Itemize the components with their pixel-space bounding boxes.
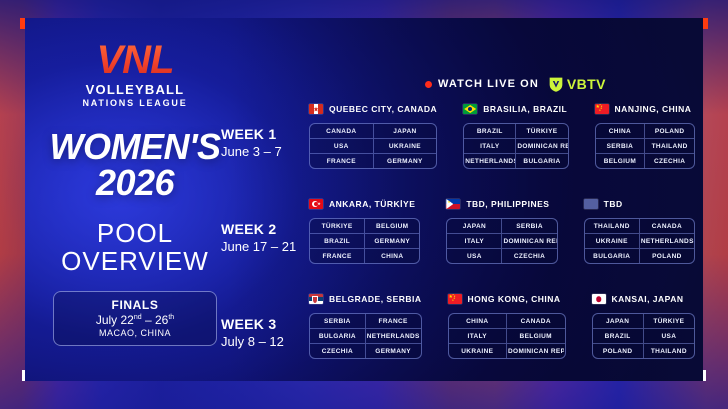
team-cell: CANADA [639,219,694,233]
pool-header: KANSAI, JAPAN [592,292,696,306]
week-row: WEEK 2June 17 – 21★ANKARA, TÜRKİYETÜRKIY… [221,197,695,292]
flag-japan-icon [592,294,606,304]
pool-header: ★★★★★HONG KONG, CHINA [448,292,566,306]
team-cell: BELGIUM [506,329,564,343]
flag-turkiye-icon: ★ [309,199,323,209]
pool-group: BELGRADE, SERBIASERBIAFRANCEBULGARIANETH… [309,292,695,359]
pool-block: BRASILIA, BRAZILBRAZILTÜRKIYEITALYDOMINI… [463,102,568,169]
team-cell: JAPAN [593,314,643,328]
team-cell: ITALY [464,139,515,153]
table-row: CHINAPOLAND [596,124,694,138]
table-row: NETHERLANDSBULGARIA [464,153,567,168]
team-cell: UKRAINE [449,344,506,358]
team-cell: CANADA [506,314,564,328]
pool-group: ★ANKARA, TÜRKİYETÜRKIYEBELGIUMBRAZILGERM… [309,197,695,264]
weeks-container: WEEK 1June 3 – 7QUEBEC CITY, CANADACANAD… [221,102,695,381]
team-cell: BULGARIA [585,249,639,263]
pool-city-label: BELGRADE, SERBIA [329,294,422,304]
table-row: FRANCECHINA [310,248,419,263]
week-dates: June 3 – 7 [221,144,307,159]
team-cell: CHINA [364,249,419,263]
table-row: USAUKRAINE [310,138,436,153]
pool-city-label: NANJING, CHINA [615,104,692,114]
team-cell: POLAND [644,124,694,138]
page-subtitle-line1: POOL [35,219,235,247]
team-cell: NETHERLANDS [464,154,515,168]
team-cell: BELGIUM [596,154,645,168]
team-cell: USA [310,139,373,153]
table-row: UKRAINEDOMINICAN REPUBLIC [449,343,565,358]
pool-table: JAPANSERBIAITALYDOMINICAN REPUBLICUSACZE… [446,218,557,264]
vnl-logo-line1: VOLLEYBALL [35,82,235,97]
week-name: WEEK 1 [221,126,307,142]
pool-block: ★TBD, PHILIPPINESJAPANSERBIAITALYDOMINIC… [446,197,557,264]
pool-city-label: ANKARA, TÜRKİYE [329,199,415,209]
vnl-logo-mark: VNL [97,40,174,80]
week-row: WEEK 3July 8 – 12BELGRADE, SERBIASERBIAF… [221,292,695,381]
team-cell: GERMANY [365,344,421,358]
team-cell: BULGARIA [515,154,567,168]
week-dates: June 17 – 21 [221,239,307,254]
table-row: CHINACANADA [449,314,565,328]
table-row: ITALYDOMINICAN REPUBLIC [447,233,556,248]
finals-date: July 22nd – 26th [62,313,208,327]
team-cell: THAILAND [644,139,694,153]
team-cell: TÜRKIYE [515,124,567,138]
finals-date-sup2: th [168,314,174,321]
flag-brazil-icon [463,104,477,114]
table-row: JAPANTÜRKIYE [593,314,695,328]
team-cell: POLAND [593,344,643,358]
team-cell: POLAND [639,249,694,263]
pool-header: BRASILIA, BRAZIL [463,102,568,116]
flag-serbia-icon [309,294,323,304]
team-cell: BRAZIL [464,124,515,138]
team-cell: BRAZIL [593,329,643,343]
team-cell: BULGARIA [310,329,365,343]
team-cell: JAPAN [373,124,437,138]
team-cell: CZECHIA [644,154,694,168]
pool-table: BRAZILTÜRKIYEITALYDOMINICAN REPUBLICNETH… [463,123,568,169]
team-cell: NETHERLANDS [639,234,694,248]
finals-date-mid: – 26 [142,313,169,327]
team-cell: CHINA [596,124,645,138]
pool-header: ★TBD, PHILIPPINES [446,197,557,211]
table-row: THAILANDCANADA [585,219,694,233]
team-cell: ITALY [447,234,501,248]
page-subtitle-line2: OVERVIEW [35,247,235,275]
pool-header: ★ANKARA, TÜRKİYE [309,197,420,211]
table-row: ITALYBELGIUM [449,328,565,343]
watch-live-banner: WATCH LIVE ON VBTV [425,76,606,92]
pool-city-label: HONG KONG, CHINA [468,294,561,304]
week-label: WEEK 3July 8 – 12 [221,316,307,349]
pool-block: ★★★★★HONG KONG, CHINACHINACANADAITALYBEL… [448,292,566,359]
team-cell: GERMANY [364,234,419,248]
left-column: VNL VOLLEYBALL NATIONS LEAGUE WOMEN'S 20… [35,24,235,373]
finals-label: FINALS [62,298,208,312]
table-row: JAPANSERBIA [447,219,556,233]
pool-block: QUEBEC CITY, CANADACANADAJAPANUSAUKRAINE… [309,102,437,169]
pool-header: ★★★★★NANJING, CHINA [595,102,695,116]
table-row: BRAZILUSA [593,328,695,343]
pool-table: CHINACANADAITALYBELGIUMUKRAINEDOMINICAN … [448,313,566,359]
pool-table: THAILANDCANADAUKRAINENETHERLANDSBULGARIA… [584,218,695,264]
pool-block: ★ANKARA, TÜRKİYETÜRKIYEBELGIUMBRAZILGERM… [309,197,420,264]
table-row: CZECHIAGERMANY [310,343,421,358]
table-row: UKRAINENETHERLANDS [585,233,694,248]
pool-city-label: QUEBEC CITY, CANADA [329,104,437,114]
table-row: BRAZILGERMANY [310,233,419,248]
pool-table: SERBIAFRANCEBULGARIANETHERLANDSCZECHIAGE… [309,313,422,359]
pool-group: QUEBEC CITY, CANADACANADAJAPANUSAUKRAINE… [309,102,695,169]
pool-city-label: KANSAI, JAPAN [612,294,684,304]
table-row: BELGIUMCZECHIA [596,153,694,168]
team-cell: USA [447,249,501,263]
week-name: WEEK 2 [221,221,307,237]
team-cell: CZECHIA [501,249,556,263]
flag-china-icon: ★★★★★ [448,294,462,304]
vnl-logo-line2: NATIONS LEAGUE [35,98,235,108]
pool-table: JAPANTÜRKIYEBRAZILUSAPOLANDTHAILAND [592,313,696,359]
team-cell: GERMANY [373,154,437,168]
table-row: BULGARIAPOLAND [585,248,694,263]
team-cell: DOMINICAN REPUBLIC [506,344,564,358]
table-row: USACZECHIA [447,248,556,263]
week-label: WEEK 1June 3 – 7 [221,126,307,159]
pool-table: CANADAJAPANUSAUKRAINEFRANCEGERMANY [309,123,437,169]
watch-live-label: WATCH LIVE ON [438,78,539,90]
team-cell: SERBIA [501,219,556,233]
page-title-line2: 2026 [35,165,235,201]
team-cell: CANADA [310,124,373,138]
team-cell: UKRAINE [373,139,437,153]
pool-table: TÜRKIYEBELGIUMBRAZILGERMANYFRANCECHINA [309,218,420,264]
pool-block: ★★★★★NANJING, CHINACHINAPOLANDSERBIATHAI… [595,102,695,169]
finals-venue: MACAO, CHINA [62,328,208,338]
team-cell: JAPAN [447,219,501,233]
finals-card: FINALS July 22nd – 26th MACAO, CHINA [53,291,217,346]
table-row: FRANCEGERMANY [310,153,436,168]
vbtv-shield-icon [549,77,563,92]
flag-philippines-icon: ★ [446,199,460,209]
table-row: POLANDTHAILAND [593,343,695,358]
table-row: ITALYDOMINICAN REPUBLIC [464,138,567,153]
table-row: CANADAJAPAN [310,124,436,138]
team-cell: NETHERLANDS [365,329,421,343]
pool-block: TBDTHAILANDCANADAUKRAINENETHERLANDSBULGA… [584,197,695,264]
team-cell: ITALY [449,329,506,343]
table-row: TÜRKIYEBELGIUM [310,219,419,233]
team-cell: UKRAINE [585,234,639,248]
pool-header: QUEBEC CITY, CANADA [309,102,437,116]
flag-canada-icon [309,104,323,114]
team-cell: FRANCE [365,314,421,328]
team-cell: TÜRKIYE [643,314,694,328]
table-row: BULGARIANETHERLANDS [310,328,421,343]
page-subtitle: POOL OVERVIEW [35,219,235,275]
vbtv-logo[interactable]: VBTV [549,76,606,92]
vnl-logo: VNL VOLLEYBALL NATIONS LEAGUE [35,40,235,108]
live-dot-icon [425,81,432,88]
pool-table: CHINAPOLANDSERBIATHAILANDBELGIUMCZECHIA [595,123,695,169]
finals-date-sup1: nd [134,314,142,321]
week-name: WEEK 3 [221,316,307,332]
pool-header: BELGRADE, SERBIA [309,292,422,306]
pool-header: TBD [584,197,695,211]
week-dates: July 8 – 12 [221,334,307,349]
table-row: SERBIATHAILAND [596,138,694,153]
team-cell: BELGIUM [364,219,419,233]
team-cell: USA [643,329,694,343]
pool-block: BELGRADE, SERBIASERBIAFRANCEBULGARIANETH… [309,292,422,359]
team-cell: FRANCE [310,154,373,168]
pool-city-label: TBD [604,199,623,209]
team-cell: TÜRKIYE [310,219,364,233]
team-cell: DOMINICAN REPUBLIC [501,234,556,248]
vbtv-label: VBTV [567,76,606,92]
team-cell: THAILAND [643,344,694,358]
page-title-line1: WOMEN'S [35,130,235,165]
flag-tbd-icon [584,199,598,209]
table-row: SERBIAFRANCE [310,314,421,328]
pool-city-label: TBD, PHILIPPINES [466,199,549,209]
team-cell: THAILAND [585,219,639,233]
pool-block: KANSAI, JAPANJAPANTÜRKIYEBRAZILUSAPOLAND… [592,292,696,359]
team-cell: SERBIA [596,139,645,153]
team-cell: CHINA [449,314,506,328]
table-row: BRAZILTÜRKIYE [464,124,567,138]
team-cell: CZECHIA [310,344,365,358]
pool-city-label: BRASILIA, BRAZIL [483,104,567,114]
content-panel: VNL VOLLEYBALL NATIONS LEAGUE WOMEN'S 20… [25,18,703,381]
finals-date-prefix: July 22 [96,313,134,327]
week-row: WEEK 1June 3 – 7QUEBEC CITY, CANADACANAD… [221,102,695,197]
team-cell: FRANCE [310,249,364,263]
team-cell: SERBIA [310,314,365,328]
team-cell: BRAZIL [310,234,364,248]
poster-root: VNL VOLLEYBALL NATIONS LEAGUE WOMEN'S 20… [0,0,728,409]
team-cell: DOMINICAN REPUBLIC [515,139,567,153]
week-label: WEEK 2June 17 – 21 [221,221,307,254]
flag-china-icon: ★★★★★ [595,104,609,114]
